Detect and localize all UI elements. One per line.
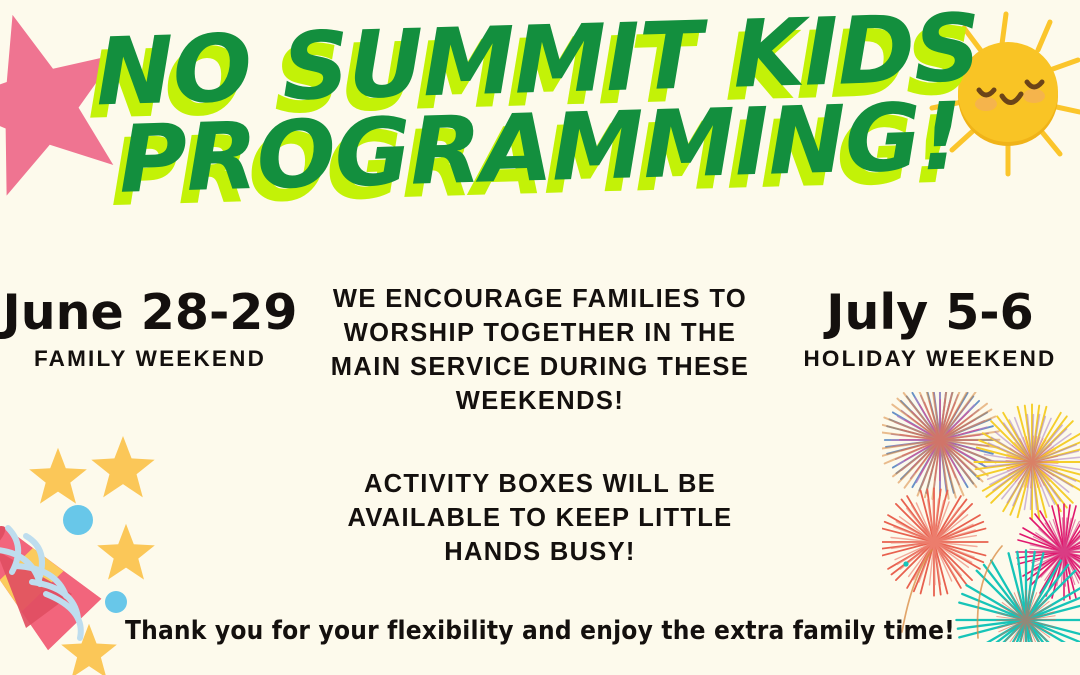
headline-line-2-text: PROGRAMMING! xyxy=(118,82,964,213)
right-date: July 5-6 xyxy=(780,288,1080,338)
center-message-block: WE ENCOURAGE FAMILIES TO WORSHIP TOGETHE… xyxy=(320,282,760,569)
left-date-subtitle: FAMILY WEEKEND xyxy=(0,346,300,372)
left-date-block: June 28-29 FAMILY WEEKEND xyxy=(0,282,300,372)
right-date-subtitle: HOLIDAY WEEKEND xyxy=(780,346,1080,372)
right-date-block: July 5-6 HOLIDAY WEEKEND xyxy=(780,282,1080,372)
message-paragraph-2: ACTIVITY BOXES WILL BE AVAILABLE TO KEEP… xyxy=(320,467,760,569)
poster-canvas: NO SUMMIT KIDS NO SUMMIT KIDS PROGRAMMIN… xyxy=(0,0,1080,675)
details-row: June 28-29 FAMILY WEEKEND WE ENCOURAGE F… xyxy=(0,282,1080,569)
tagline: Thank you for your flexibility and enjoy… xyxy=(0,616,1080,646)
page-title: NO SUMMIT KIDS NO SUMMIT KIDS PROGRAMMIN… xyxy=(0,3,1080,265)
message-paragraph-1: WE ENCOURAGE FAMILIES TO WORSHIP TOGETHE… xyxy=(320,282,760,419)
left-date: June 28-29 xyxy=(0,288,300,338)
headline-line-2: PROGRAMMING! PROGRAMMING! xyxy=(0,90,1080,206)
